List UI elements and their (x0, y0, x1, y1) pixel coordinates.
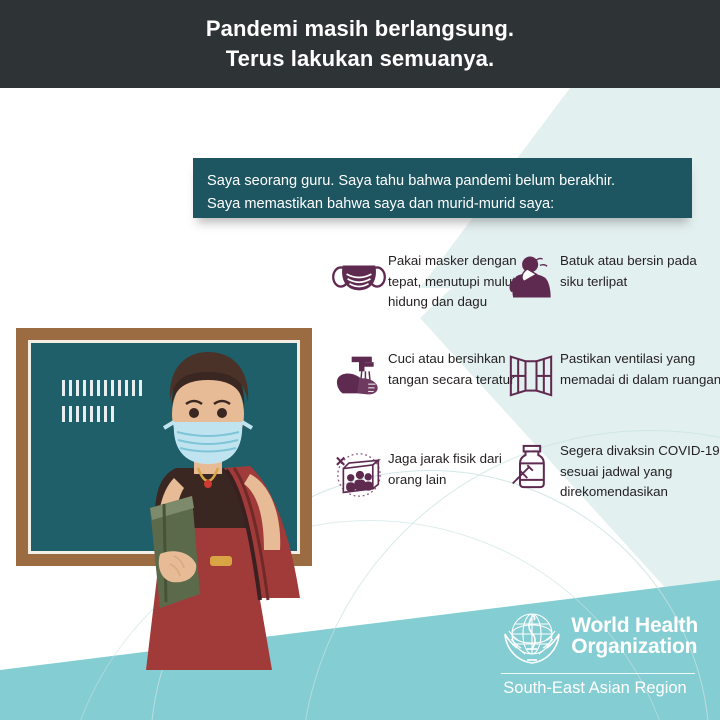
header-title-line-2: Terus lakukan semuanya. (226, 44, 494, 74)
who-logo-line-2: Organization (571, 636, 698, 657)
tip-label-vaccine: Segera divaksin COVID-19 sesuai jadwal y… (560, 439, 720, 503)
who-logo-wordmark: World Health Organization (571, 615, 698, 657)
teacher-illustration (14, 318, 334, 670)
tip-item-mask: Pakai masker dengan tepat, menutupi mulu… (330, 249, 525, 313)
vaccine-vial-icon (502, 439, 560, 495)
tip-label-ventilation: Pastikan ventilasi yang memadai di dalam… (560, 347, 720, 390)
avoid-crowds-icon (330, 447, 388, 503)
who-emblem-icon (501, 605, 563, 667)
who-logo: World Health Organization South-East Asi… (501, 605, 698, 699)
who-logo-divider (501, 673, 695, 675)
tip-item-distance: Jaga jarak fisik dari orang lain (330, 447, 525, 503)
handwashing-icon (330, 347, 388, 403)
tip-item-vaccine: Segera divaksin COVID-19 sesuai jadwal y… (502, 439, 720, 503)
tip-label-distance: Jaga jarak fisik dari orang lain (388, 447, 520, 490)
face-mask-icon (330, 249, 388, 305)
header-banner: Pandemi masih berlangsung. Terus lakukan… (0, 0, 720, 88)
tip-item-ventilation: Pastikan ventilasi yang memadai di dalam… (502, 347, 720, 403)
header-title-line-1: Pandemi masih berlangsung. (206, 14, 514, 44)
tip-label-mask: Pakai masker dengan tepat, menutupi mulu… (388, 249, 520, 313)
prevention-tips-list: Pakai masker dengan tepat, menutupi mulu… (330, 243, 720, 543)
cough-elbow-icon (502, 249, 560, 305)
tip-label-cough: Batuk atau bersin pada siku terlipat (560, 249, 720, 292)
poster-root: Pandemi masih berlangsung. Terus lakukan… (0, 0, 720, 720)
who-logo-line-1: World Health (571, 615, 698, 636)
quote-line-2: Saya memastikan bahwa saya dan murid-mur… (207, 193, 678, 216)
tip-item-handwash: Cuci atau bersihkan tangan secara teratu… (330, 347, 525, 403)
who-region-label: South-East Asian Region (501, 679, 686, 698)
open-window-icon (502, 347, 560, 403)
tip-item-cough: Batuk atau bersin pada siku terlipat (502, 249, 720, 305)
who-logo-main: World Health Organization (501, 605, 698, 667)
quote-callout-box: Saya seorang guru. Saya tahu bahwa pande… (193, 158, 692, 218)
quote-line-1: Saya seorang guru. Saya tahu bahwa pande… (207, 170, 678, 193)
